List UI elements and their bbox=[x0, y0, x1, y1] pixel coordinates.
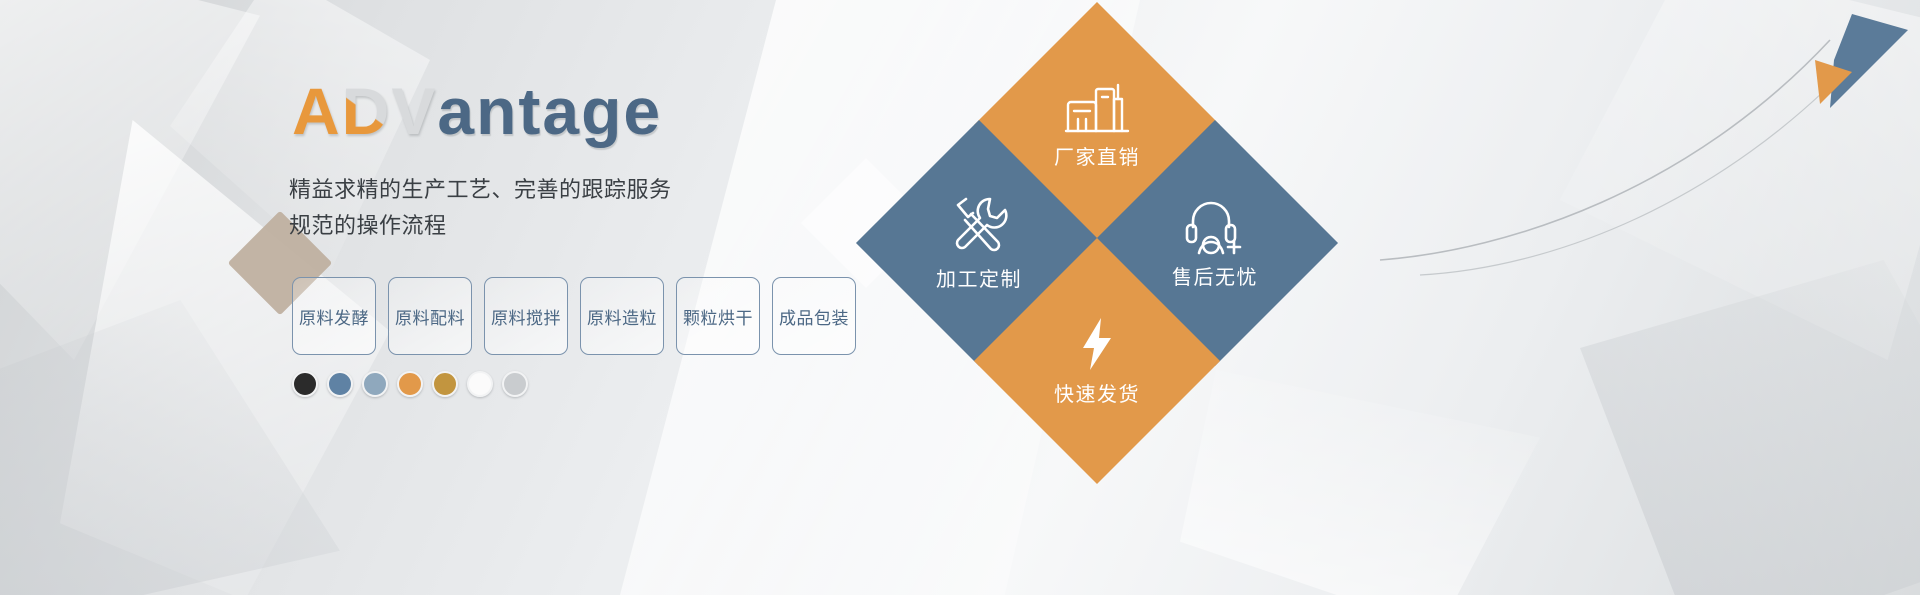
subtitle-line-1: 精益求精的生产工艺、完善的跟踪服务 bbox=[289, 172, 672, 208]
dot-orange[interactable] bbox=[397, 371, 423, 397]
dot-black[interactable] bbox=[292, 371, 318, 397]
process-step-4[interactable]: 原料造粒 bbox=[580, 277, 664, 355]
dot-steel-blue[interactable] bbox=[327, 371, 353, 397]
process-step-3[interactable]: 原料搅拌 bbox=[484, 277, 568, 355]
arrow-swoosh-decoration bbox=[1360, 0, 1920, 300]
advantage-card-fastshipping[interactable]: 快速发货 bbox=[974, 238, 1220, 484]
lightning-icon bbox=[1077, 316, 1117, 372]
process-step-list: 原料发酵 原料配料 原料搅拌 原料造粒 颗粒烘干 成品包装 bbox=[292, 277, 856, 355]
dot-gray[interactable] bbox=[502, 371, 528, 397]
headline-rest: antage bbox=[437, 74, 662, 148]
process-step-6[interactable]: 成品包装 bbox=[772, 277, 856, 355]
bg-polygon-g bbox=[1580, 260, 1920, 595]
process-step-5[interactable]: 颗粒烘干 bbox=[676, 277, 760, 355]
subtitle-block: 精益求精的生产工艺、完善的跟踪服务 规范的操作流程 bbox=[289, 172, 672, 244]
headline-accent: ADV bbox=[292, 78, 437, 144]
page-title: ADVantage bbox=[292, 78, 662, 144]
factory-icon bbox=[1064, 81, 1130, 135]
dot-light-blue[interactable] bbox=[362, 371, 388, 397]
process-step-2[interactable]: 原料配料 bbox=[388, 277, 472, 355]
headset-icon bbox=[1183, 197, 1247, 255]
advantage-label-fastshipping: 快速发货 bbox=[1054, 378, 1140, 407]
advantage-banner: ADVantage 精益求精的生产工艺、完善的跟踪服务 规范的操作流程 原料发酵… bbox=[0, 0, 1920, 595]
dot-tan[interactable] bbox=[432, 371, 458, 397]
color-dot-list bbox=[292, 371, 528, 397]
advantage-label-aftersales: 售后无忧 bbox=[1172, 261, 1258, 290]
dot-white[interactable] bbox=[467, 371, 493, 397]
advantage-diamond-cluster: 厂家直销 售后无忧 bbox=[880, 20, 1400, 440]
tools-icon bbox=[946, 195, 1012, 257]
process-step-1[interactable]: 原料发酵 bbox=[292, 277, 376, 355]
subtitle-line-2: 规范的操作流程 bbox=[289, 208, 672, 244]
